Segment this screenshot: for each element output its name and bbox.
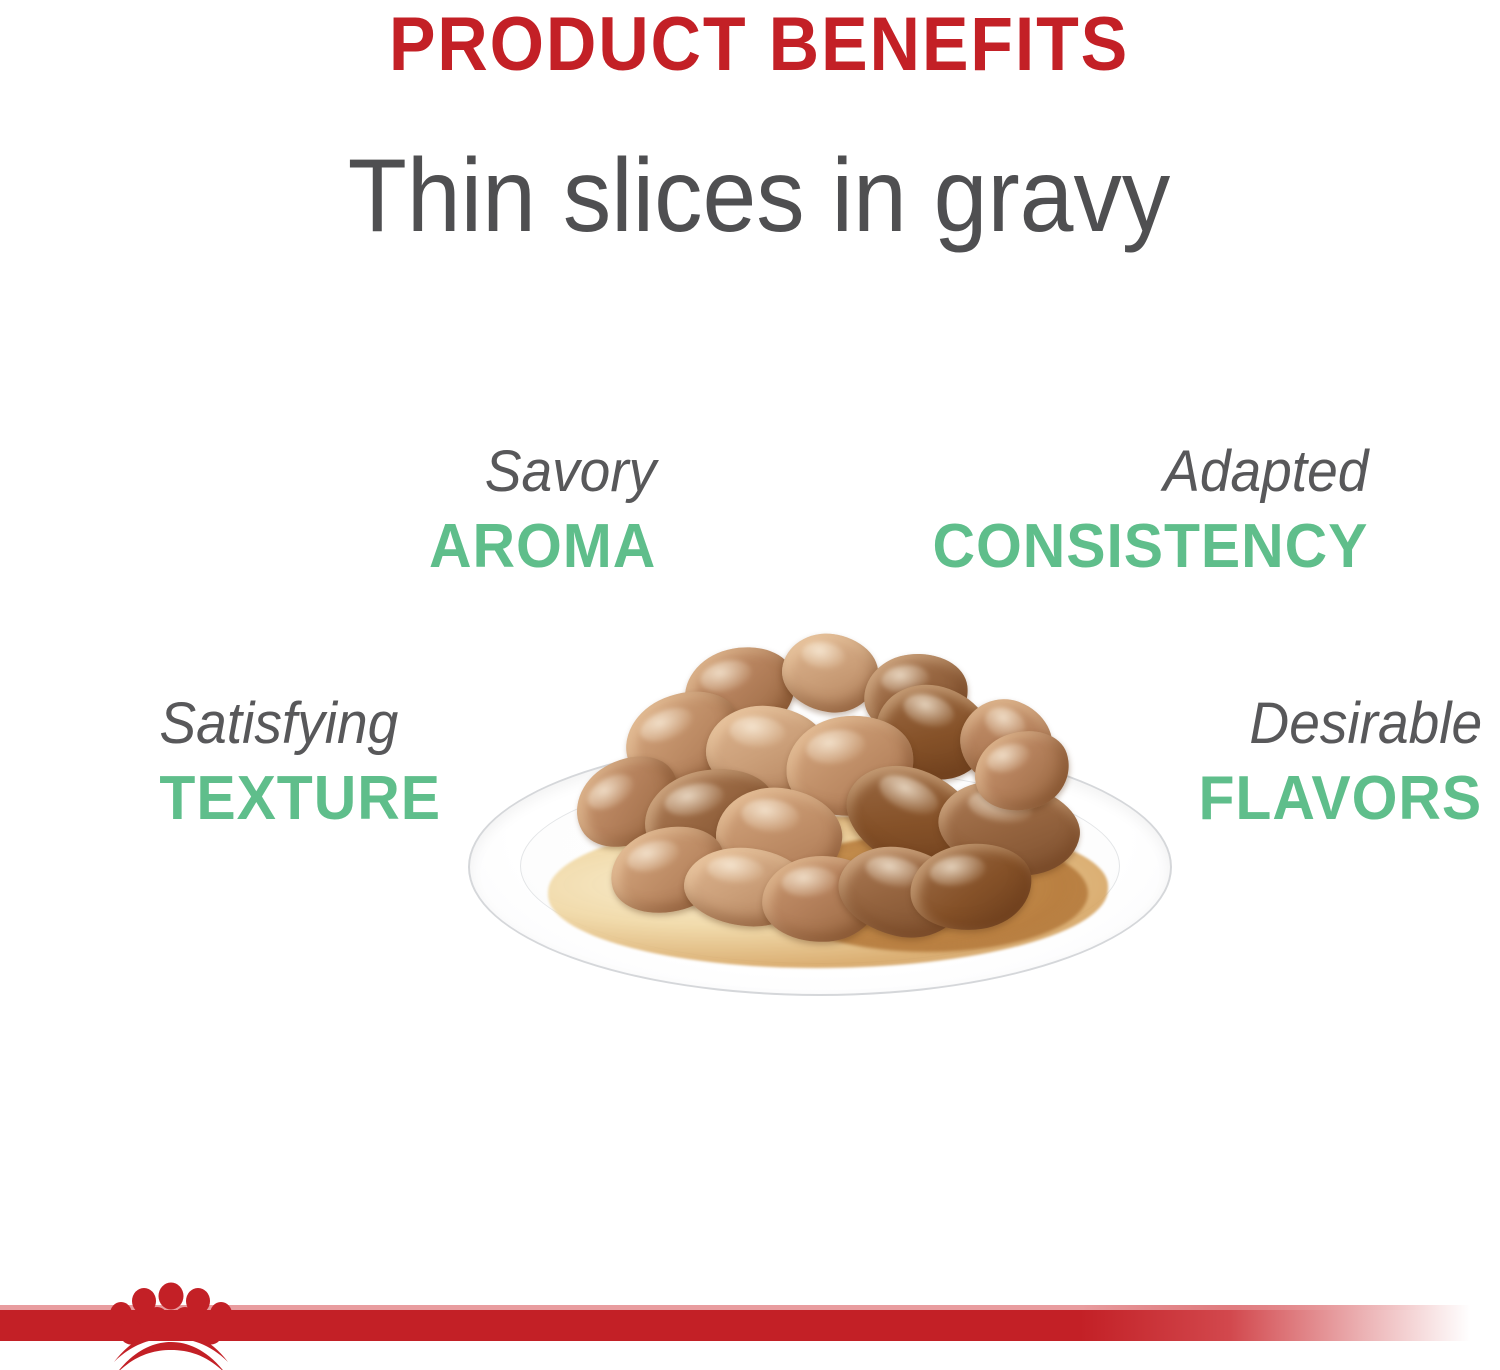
benefit-aroma: Savory AROMA — [423, 442, 662, 582]
benefit-flavors: Desirable FLAVORS — [1191, 694, 1490, 834]
benefit-consistency-label: CONSISTENCY — [933, 512, 1369, 582]
benefit-aroma-label: AROMA — [429, 512, 656, 582]
benefit-texture-qualifier: Satisfying — [159, 694, 441, 754]
benefit-aroma-qualifier: Savory — [429, 442, 656, 502]
page-title: Thin slices in gravy — [70, 138, 1448, 254]
product-photo — [468, 620, 1172, 1000]
benefit-texture: Satisfying TEXTURE — [152, 694, 448, 834]
royal-canin-crown-icon — [104, 1282, 238, 1370]
page-eyebrow: PRODUCT BENEFITS — [77, 4, 1440, 86]
benefit-consistency: Adapted CONSISTENCY — [921, 442, 1380, 582]
benefit-flavors-qualifier: Desirable — [1199, 694, 1483, 754]
benefit-flavors-label: FLAVORS — [1199, 764, 1483, 834]
product-benefits-page: PRODUCT BENEFITS Thin slices in gravy Sa… — [0, 0, 1500, 1370]
benefit-texture-label: TEXTURE — [159, 764, 441, 834]
benefit-consistency-qualifier: Adapted — [933, 442, 1369, 502]
page-header: PRODUCT BENEFITS Thin slices in gravy — [0, 0, 1500, 254]
